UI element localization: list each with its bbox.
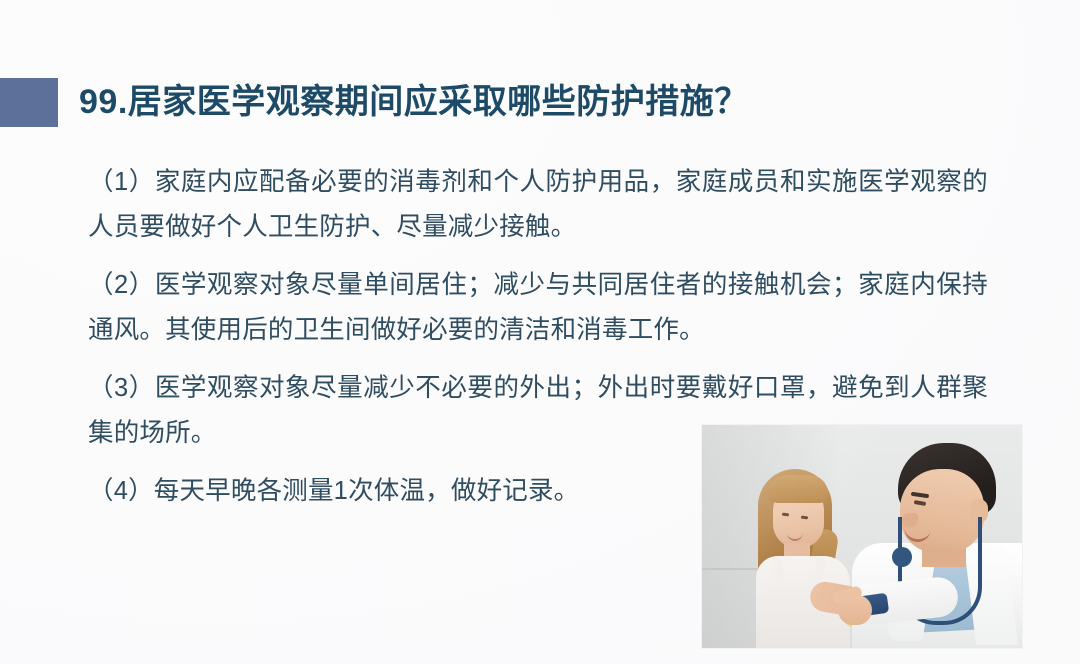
photo-frame <box>702 425 1022 648</box>
slide-header: 99.居家医学观察期间应采取哪些防护措施？ <box>0 70 1080 134</box>
slide-canvas: 99.居家医学观察期间应采取哪些防护措施？ （1）家庭内应配备必要的消毒剂和个人… <box>0 0 1080 664</box>
page-title: 99.居家医学观察期间应采取哪些防护措施？ <box>79 85 749 119</box>
accent-bar <box>0 78 58 127</box>
doctor-examining-girl-photo <box>702 425 1022 648</box>
stethoscope-bell-icon <box>892 547 912 567</box>
paragraph-item: （1）家庭内应配备必要的消毒剂和个人防护用品，家庭成员和实施医学观察的人员要做好… <box>88 160 988 250</box>
paragraph-item: （4）每天早晚各测量1次体温，做好记录。 <box>88 469 728 514</box>
paragraph-item: （2）医学观察对象尽量单间居住；减少与共同居住者的接触机会；家庭内保持通风。其使… <box>88 263 988 353</box>
girl-eye-right <box>801 516 808 520</box>
girl-eye-left <box>782 513 789 517</box>
girl-fringe <box>768 475 828 503</box>
